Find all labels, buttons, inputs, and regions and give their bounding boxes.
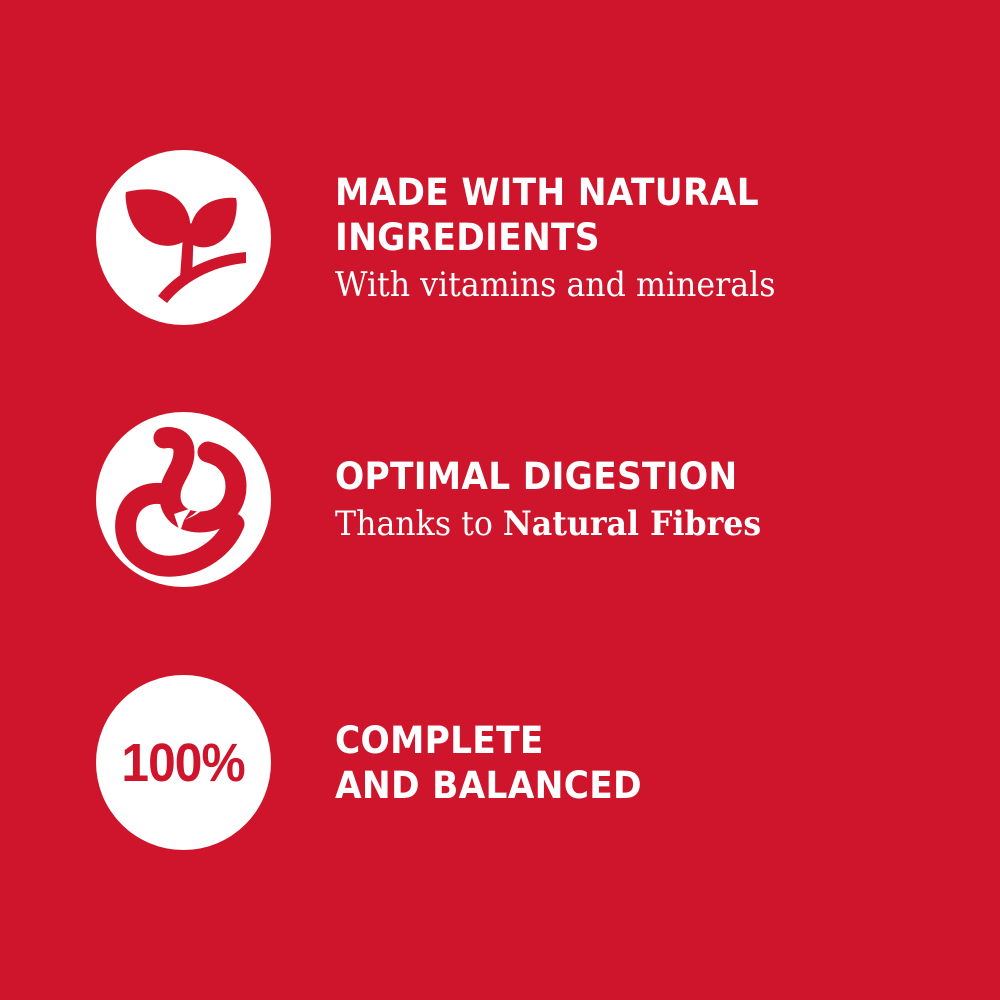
benefit-headline: MADE WITH NATURAL INGREDIENTS [335, 170, 912, 260]
benefit-text-block: OPTIMAL DIGESTION Thanks to Natural Fibr… [335, 412, 955, 587]
percentage-badge-icon-badge: 100% [96, 675, 271, 850]
benefit-subline-prefix: Thanks to [335, 504, 503, 544]
benefit-headline: COMPLETE AND BALANCED [335, 718, 912, 808]
stomach-digestion-icon-badge [96, 412, 271, 587]
benefit-subline: With vitamins and minerals [335, 264, 912, 306]
benefit-subline-prefix: With vitamins and minerals [335, 265, 775, 305]
seedling-plant-icon-badge [96, 150, 271, 325]
percentage-badge-icon: 100% [122, 736, 245, 790]
benefits-panel: MADE WITH NATURAL INGREDIENTS With vitam… [0, 0, 1000, 1000]
benefit-row: 100% COMPLETE AND BALANCED [0, 675, 1000, 850]
benefit-text-block: MADE WITH NATURAL INGREDIENTS With vitam… [335, 150, 955, 325]
benefit-subline: Thanks to Natural Fibres [335, 503, 912, 545]
benefit-text-block: COMPLETE AND BALANCED [335, 675, 955, 850]
benefit-headline: OPTIMAL DIGESTION [335, 454, 912, 499]
benefit-subline-emphasis: Natural Fibres [503, 504, 761, 544]
stomach-digestion-icon [96, 412, 271, 587]
benefit-row: MADE WITH NATURAL INGREDIENTS With vitam… [0, 150, 1000, 325]
benefit-row: OPTIMAL DIGESTION Thanks to Natural Fibr… [0, 412, 1000, 587]
seedling-plant-icon [96, 150, 271, 325]
